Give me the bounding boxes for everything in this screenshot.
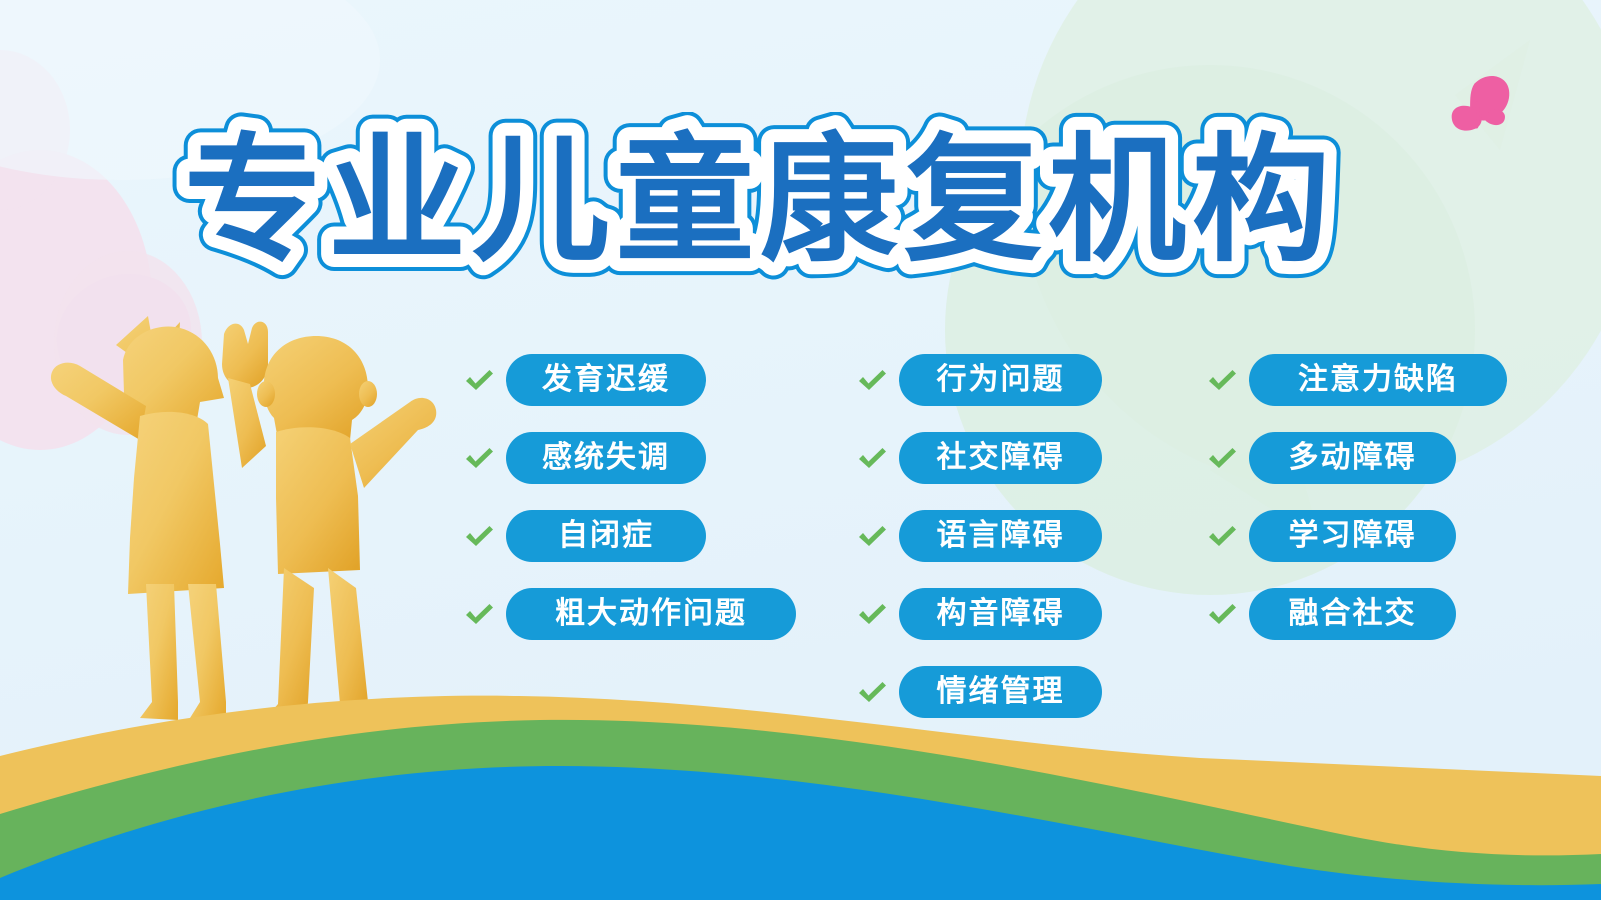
check-icon: [462, 519, 496, 553]
service-tag-pill[interactable]: 社交障碍: [899, 432, 1102, 484]
tag-row: 发育迟缓: [462, 352, 796, 408]
tag-row: 行为问题: [855, 352, 1102, 408]
service-tag-pill[interactable]: 自闭症: [506, 510, 706, 562]
check-icon: [855, 363, 889, 397]
check-icon: [855, 597, 889, 631]
service-tag-pill[interactable]: 语言障碍: [899, 510, 1102, 562]
service-tag-pill[interactable]: 注意力缺陷: [1249, 354, 1507, 406]
tag-row: 构音障碍: [855, 586, 1102, 642]
tag-row: 注意力缺陷: [1205, 352, 1507, 408]
service-tag-pill[interactable]: 行为问题: [899, 354, 1102, 406]
check-icon: [1205, 597, 1239, 631]
service-tag-pill[interactable]: 粗大动作问题: [506, 588, 796, 640]
check-icon: [855, 519, 889, 553]
tag-row: 感统失调: [462, 430, 796, 486]
service-tag-pill[interactable]: 构音障碍: [899, 588, 1102, 640]
tag-row: 语言障碍: [855, 508, 1102, 564]
check-icon: [855, 675, 889, 709]
service-tag-pill[interactable]: 感统失调: [506, 432, 706, 484]
check-icon: [1205, 441, 1239, 475]
tag-column-2: 行为问题社交障碍语言障碍构音障碍情绪管理: [855, 352, 1102, 742]
check-icon: [855, 441, 889, 475]
service-tag-pill[interactable]: 情绪管理: [899, 666, 1102, 718]
tag-row: 学习障碍: [1205, 508, 1507, 564]
check-icon: [1205, 363, 1239, 397]
check-icon: [462, 597, 496, 631]
tag-row: 情绪管理: [855, 664, 1102, 720]
tag-column-3: 注意力缺陷多动障碍学习障碍融合社交: [1205, 352, 1507, 664]
tag-row: 融合社交: [1205, 586, 1507, 642]
service-tag-pill[interactable]: 融合社交: [1249, 588, 1456, 640]
tag-row: 多动障碍: [1205, 430, 1507, 486]
check-icon: [462, 363, 496, 397]
service-tag-pill[interactable]: 学习障碍: [1249, 510, 1456, 562]
poster-canvas: 专业儿童康复机构 专业儿童康复机构 专业儿童康复机构 发育迟缓感统失调自闭症粗大…: [0, 0, 1601, 900]
service-tag-grid: 发育迟缓感统失调自闭症粗大动作问题 行为问题社交障碍语言障碍构音障碍情绪管理 注…: [0, 0, 1601, 900]
check-icon: [462, 441, 496, 475]
service-tag-pill[interactable]: 多动障碍: [1249, 432, 1456, 484]
tag-row: 粗大动作问题: [462, 586, 796, 642]
check-icon: [1205, 519, 1239, 553]
tag-row: 自闭症: [462, 508, 796, 564]
service-tag-pill[interactable]: 发育迟缓: [506, 354, 706, 406]
tag-row: 社交障碍: [855, 430, 1102, 486]
tag-column-1: 发育迟缓感统失调自闭症粗大动作问题: [462, 352, 796, 664]
